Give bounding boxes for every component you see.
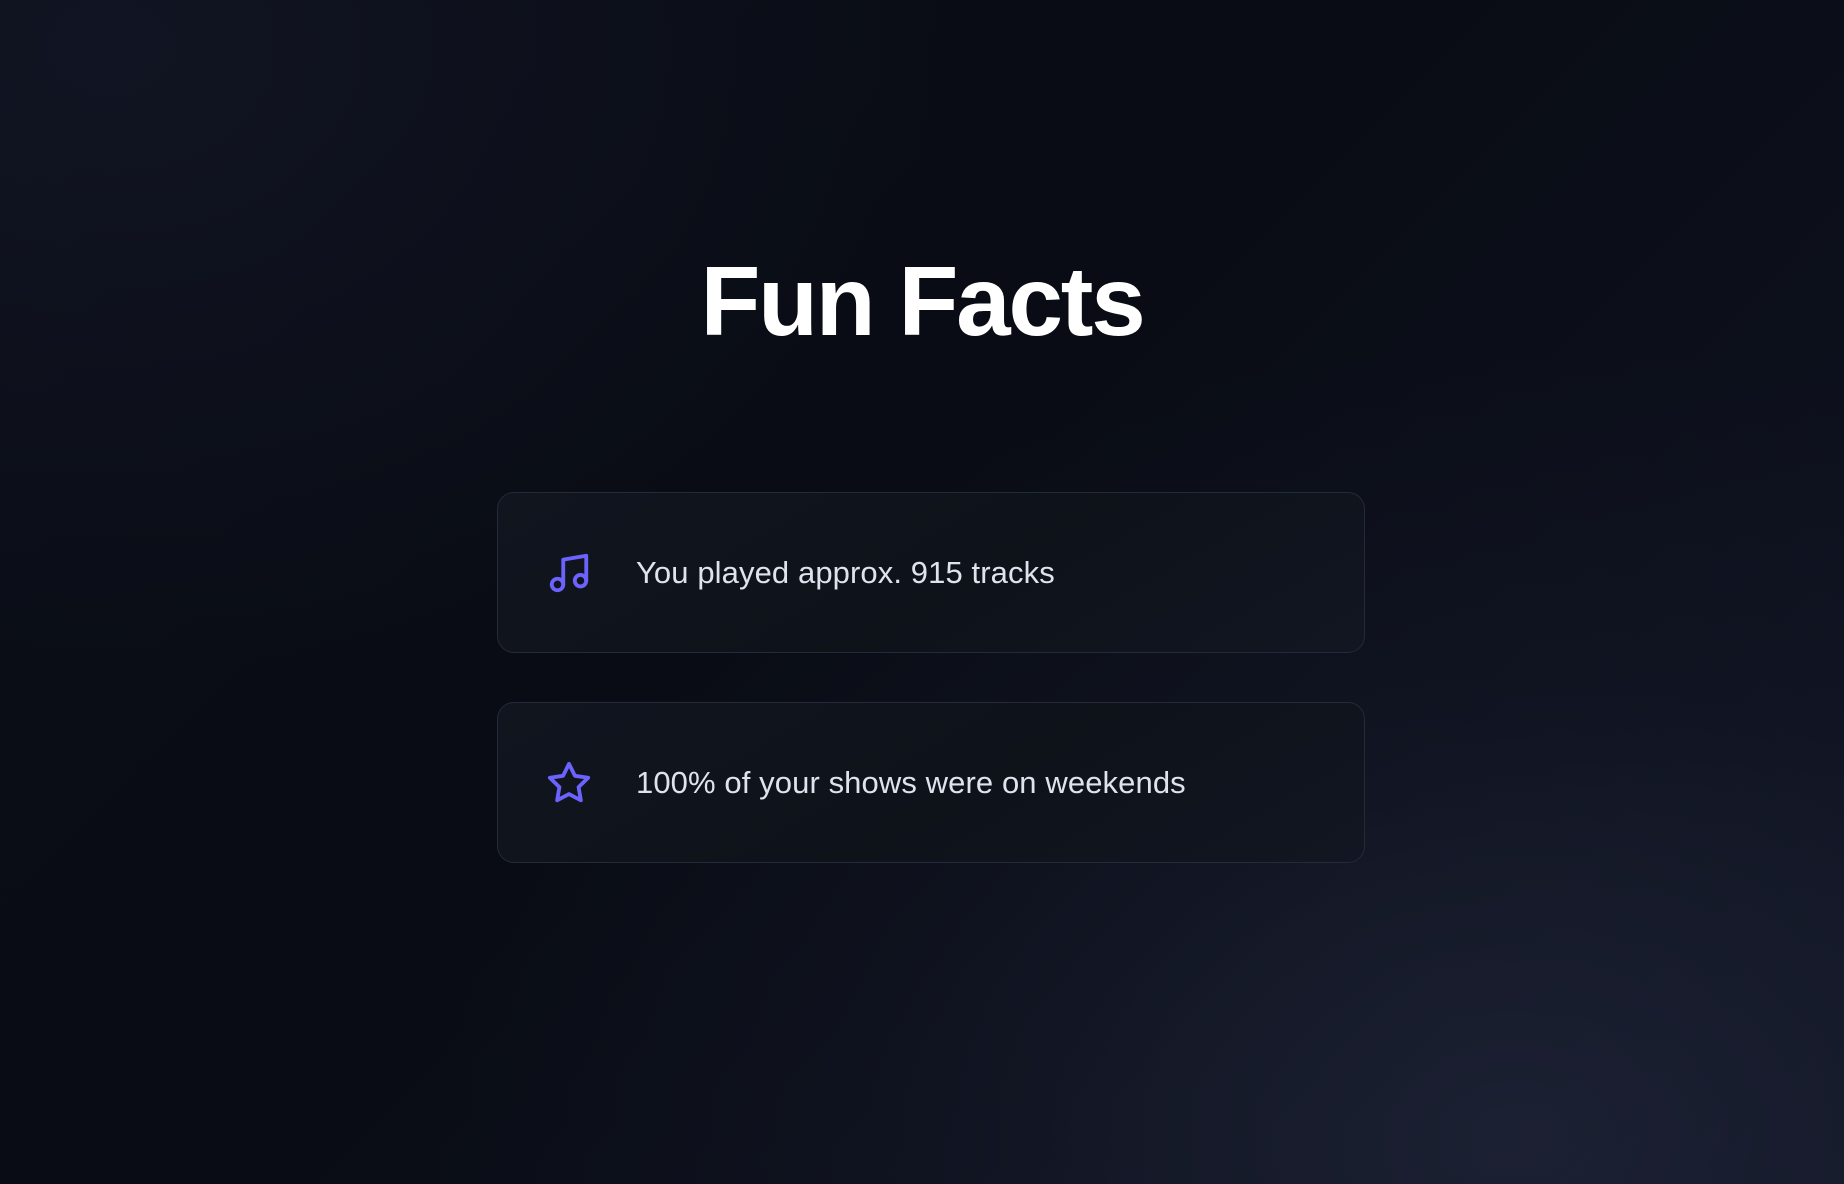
fact-card[interactable]: You played approx. 915 tracks: [497, 492, 1365, 653]
fact-text: 100% of your shows were on weekends: [636, 764, 1186, 801]
fun-facts-list: You played approx. 915 tracks 100% of yo…: [497, 492, 1365, 863]
star-icon: [546, 760, 592, 806]
fact-card[interactable]: 100% of your shows were on weekends: [497, 702, 1365, 863]
page-title: Fun Facts: [0, 252, 1844, 350]
fact-text: You played approx. 915 tracks: [636, 554, 1055, 591]
music-note-icon: [546, 550, 592, 596]
fun-facts-page: Fun Facts You played approx. 915 tracks …: [0, 0, 1844, 1184]
